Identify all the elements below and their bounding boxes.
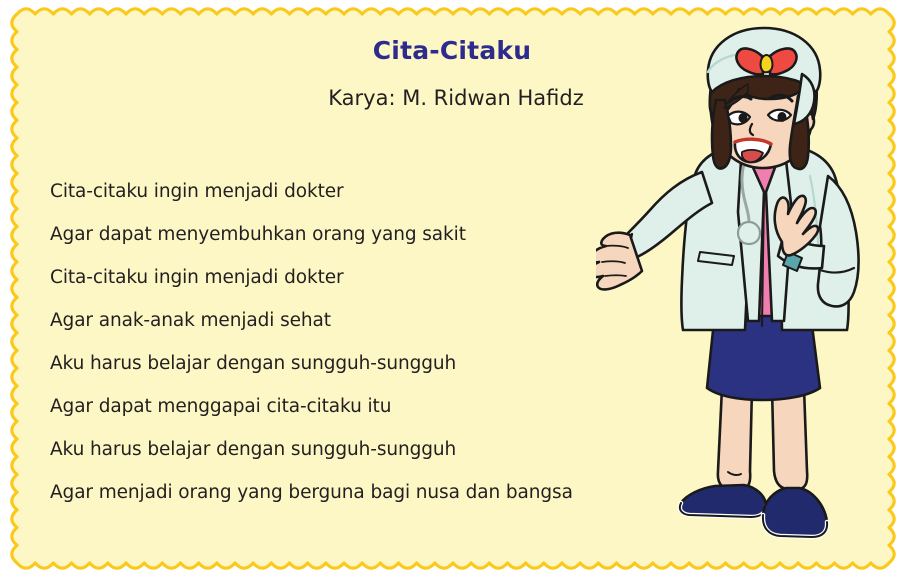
poem-line: Aku harus belajar dengan sungguh-sungguh [50, 342, 710, 385]
poem-poster: Cita-Citaku Karya: M. Ridwan Hafidz Cita… [0, 0, 906, 577]
poem-line: Cita-citaku ingin menjadi dokter [50, 170, 710, 213]
poem-line: Agar dapat menggapai cita-citaku itu [50, 385, 710, 428]
poem-line: Agar anak-anak menjadi sehat [50, 299, 710, 342]
poem-line: Cita-citaku ingin menjadi dokter [50, 256, 710, 299]
poem-body: Cita-citaku ingin menjadi dokter Agar da… [50, 170, 710, 514]
poem-line: Agar menjadi orang yang berguna bagi nus… [50, 471, 710, 514]
poem-author-text: Karya: M. Ridwan Hafidz [328, 86, 583, 110]
poem-title-text: Cita-Citaku [373, 36, 531, 65]
poem-author: Karya: M. Ridwan Hafidz [0, 86, 906, 110]
page-title: Cita-Citaku [0, 36, 906, 65]
poem-line: Aku harus belajar dengan sungguh-sungguh [50, 428, 710, 471]
poem-content: Cita-Citaku Karya: M. Ridwan Hafidz Cita… [0, 0, 906, 577]
poem-line: Agar dapat menyembuhkan orang yang sakit [50, 213, 710, 256]
